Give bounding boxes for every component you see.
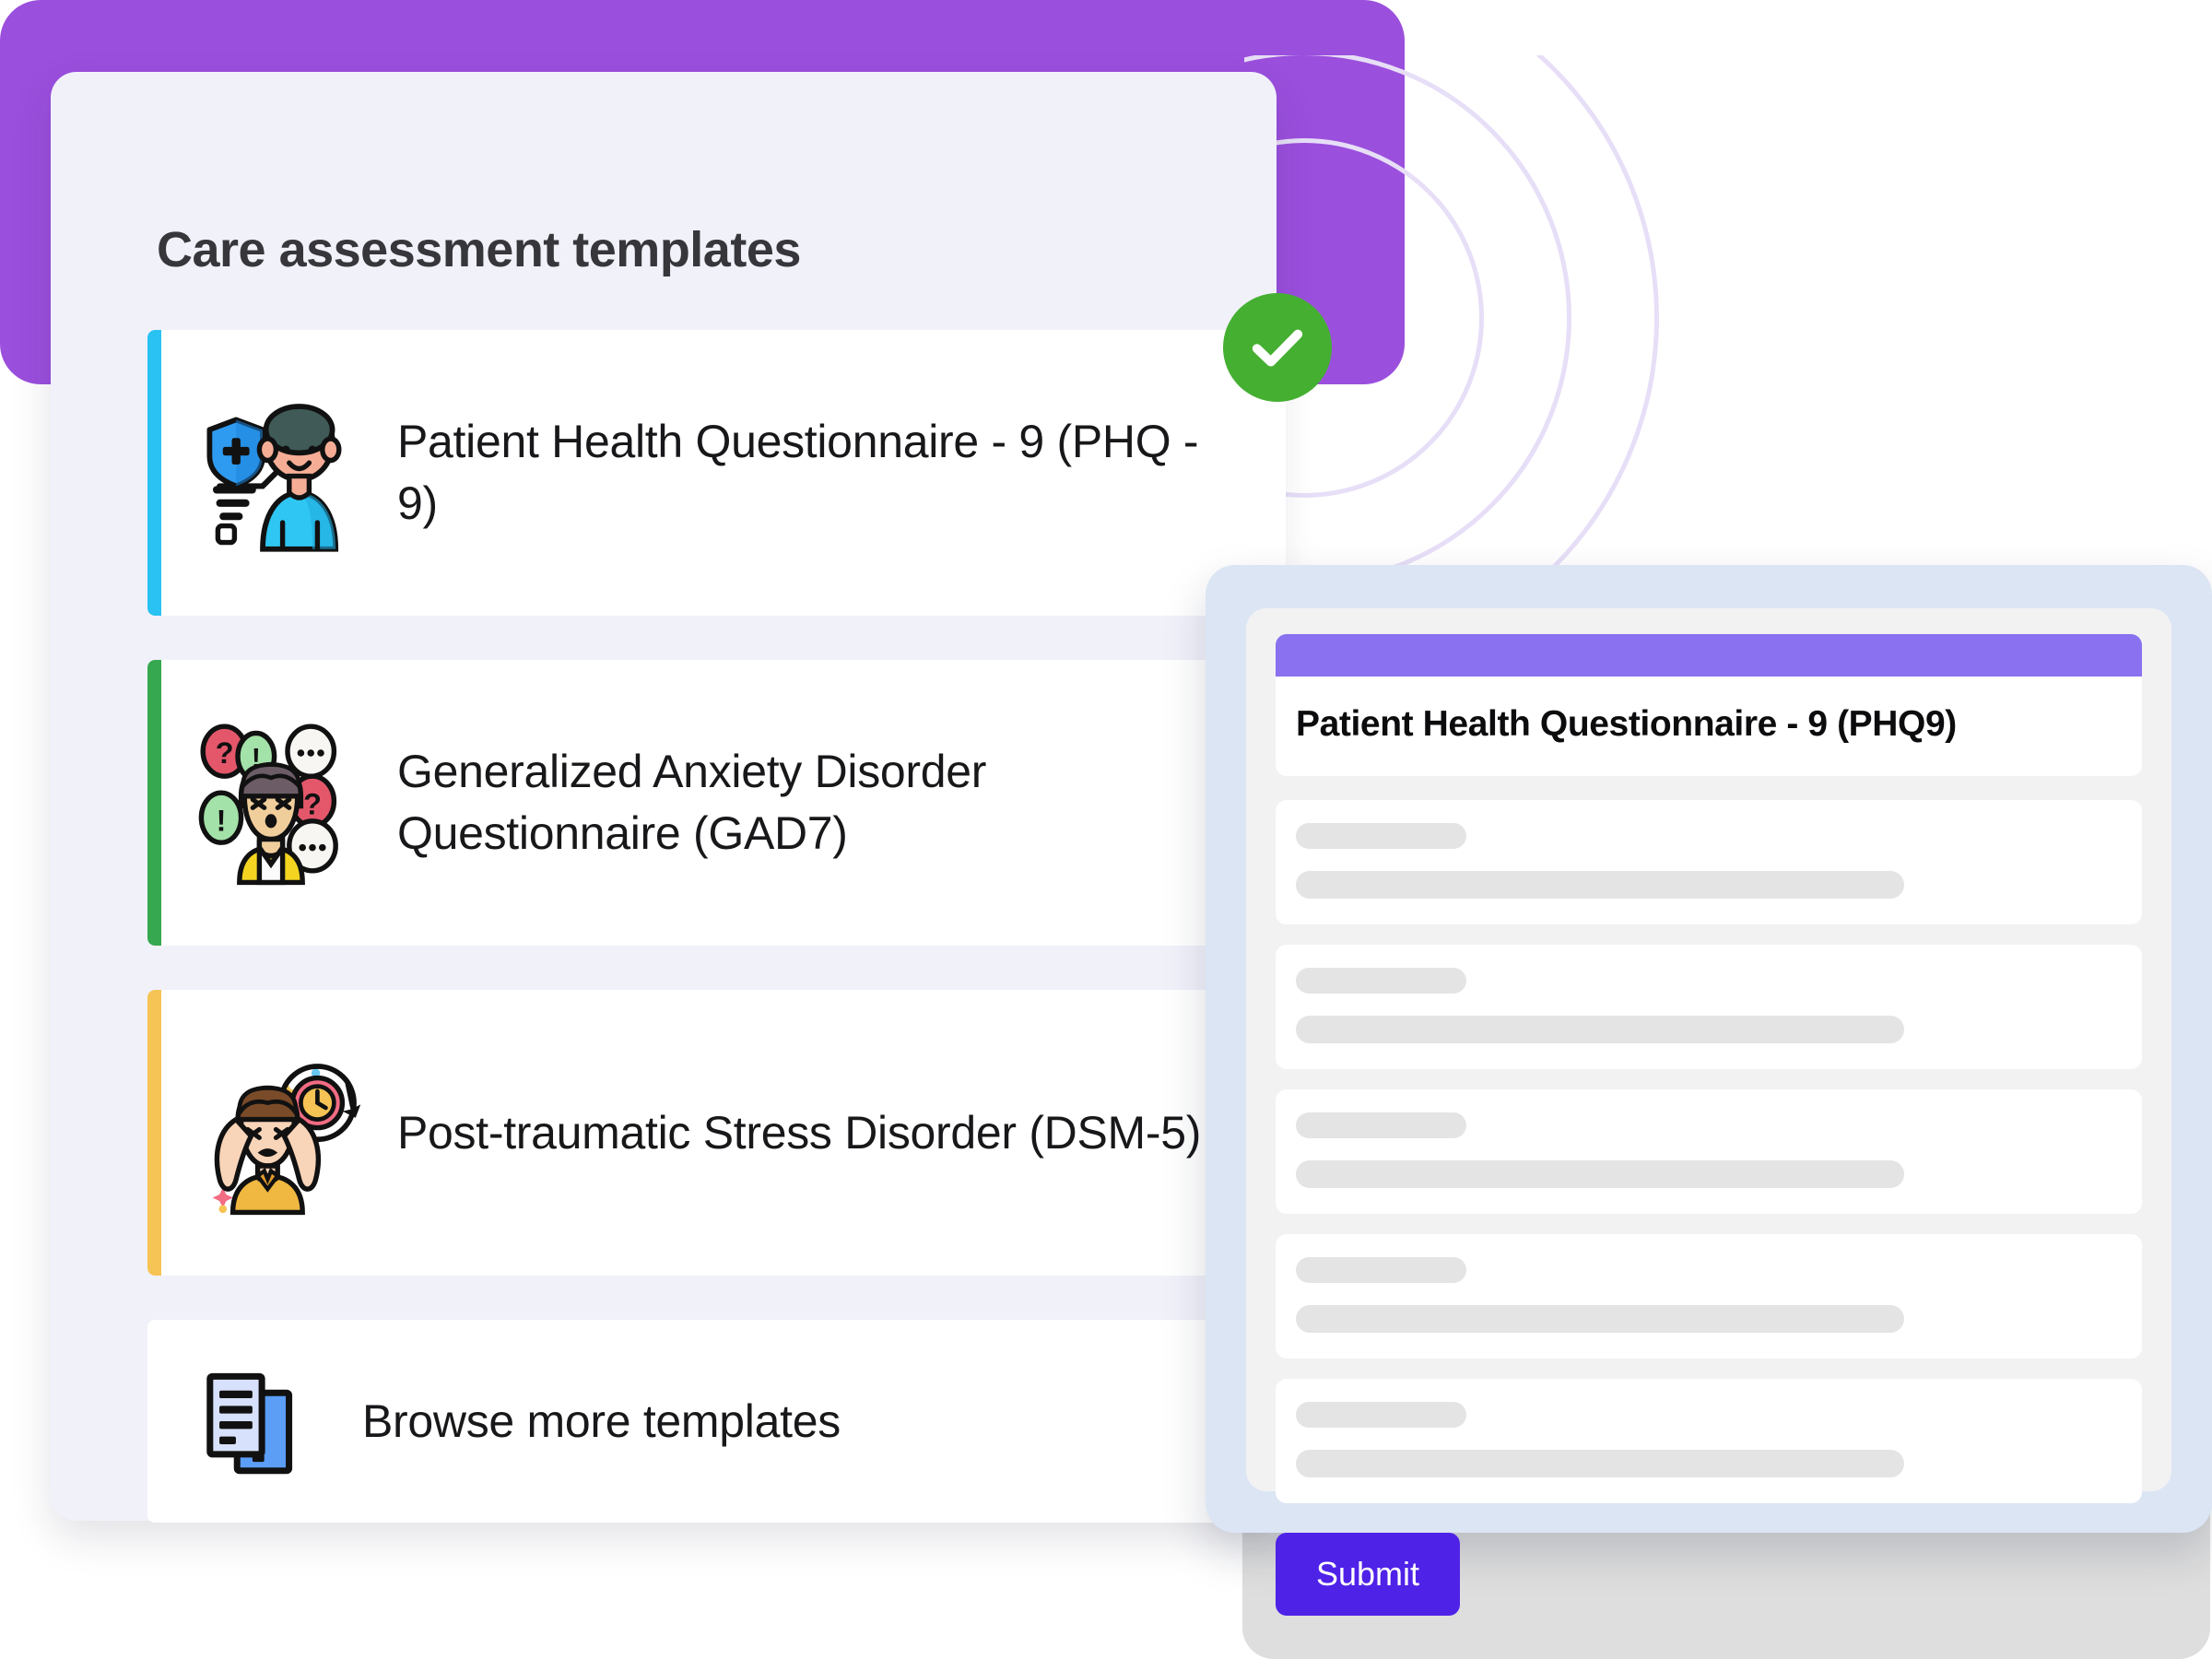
- template-list: Patient Health Questionnaire - 9 (PHQ - …: [147, 330, 1286, 1567]
- accent-bar: [147, 660, 161, 946]
- form-question-placeholder: [1276, 945, 2142, 1069]
- stressed-person-clock-icon: [196, 1050, 362, 1216]
- browse-more-templates-label: Browse more templates: [362, 1391, 841, 1453]
- care-assessment-panel: Care assessment templates: [51, 72, 1277, 1521]
- documents-stack-icon: [198, 1362, 316, 1480]
- list-item[interactable]: ? ! ! ?: [147, 660, 1286, 946]
- skeleton-line-short: [1296, 1112, 1466, 1138]
- skeleton-line-short: [1296, 968, 1466, 994]
- submit-button[interactable]: Submit: [1276, 1533, 1460, 1616]
- accent-bar: [147, 330, 161, 616]
- skeleton-line-long: [1296, 1016, 1904, 1043]
- browse-more-templates-item[interactable]: Browse more templates: [147, 1320, 1286, 1523]
- form-header-card: Patient Health Questionnaire - 9 (PHQ9): [1276, 634, 2142, 776]
- form-question-placeholder: [1276, 800, 2142, 924]
- skeleton-line-long: [1296, 1450, 1904, 1477]
- svg-text:!: !: [217, 805, 227, 838]
- list-item-label: Post-traumatic Stress Disorder (DSM-5): [397, 1102, 1201, 1164]
- skeleton-line-short: [1296, 823, 1466, 849]
- form-body: Patient Health Questionnaire - 9 (PHQ9): [1246, 608, 2171, 1491]
- form-question-placeholder: [1276, 1234, 2142, 1359]
- svg-text:?: ?: [216, 736, 234, 770]
- list-item[interactable]: Patient Health Questionnaire - 9 (PHQ - …: [147, 330, 1286, 616]
- form-header-accent-bar: [1276, 634, 2142, 677]
- skeleton-line-long: [1296, 871, 1904, 899]
- list-item[interactable]: Post-traumatic Stress Disorder (DSM-5): [147, 990, 1286, 1276]
- page-title: Care assessment templates: [157, 221, 801, 278]
- form-question-placeholder: [1276, 1379, 2142, 1503]
- skeleton-line-long: [1296, 1160, 1904, 1188]
- svg-text:?: ?: [303, 788, 322, 821]
- questionnaire-form-window: Patient Health Questionnaire - 9 (PHQ9): [1206, 565, 2212, 1533]
- patient-shield-icon: [196, 390, 362, 556]
- list-item-label: Patient Health Questionnaire - 9 (PHQ - …: [397, 411, 1208, 535]
- check-circle-icon: [1223, 293, 1332, 402]
- skeleton-line-long: [1296, 1305, 1904, 1333]
- concentric-arcs-decoration: [1244, 55, 2212, 627]
- list-item-label: Generalized Anxiety Disorder Questionnai…: [397, 741, 1208, 865]
- form-question-placeholder: [1276, 1089, 2142, 1214]
- skeleton-line-short: [1296, 1257, 1466, 1283]
- skeleton-line-short: [1296, 1402, 1466, 1428]
- anxious-person-bubbles-icon: ? ! ! ?: [196, 720, 362, 886]
- form-title: Patient Health Questionnaire - 9 (PHQ9): [1276, 677, 2142, 776]
- screenshot-stage: Care assessment templates: [0, 0, 2212, 1659]
- accent-bar: [147, 990, 161, 1276]
